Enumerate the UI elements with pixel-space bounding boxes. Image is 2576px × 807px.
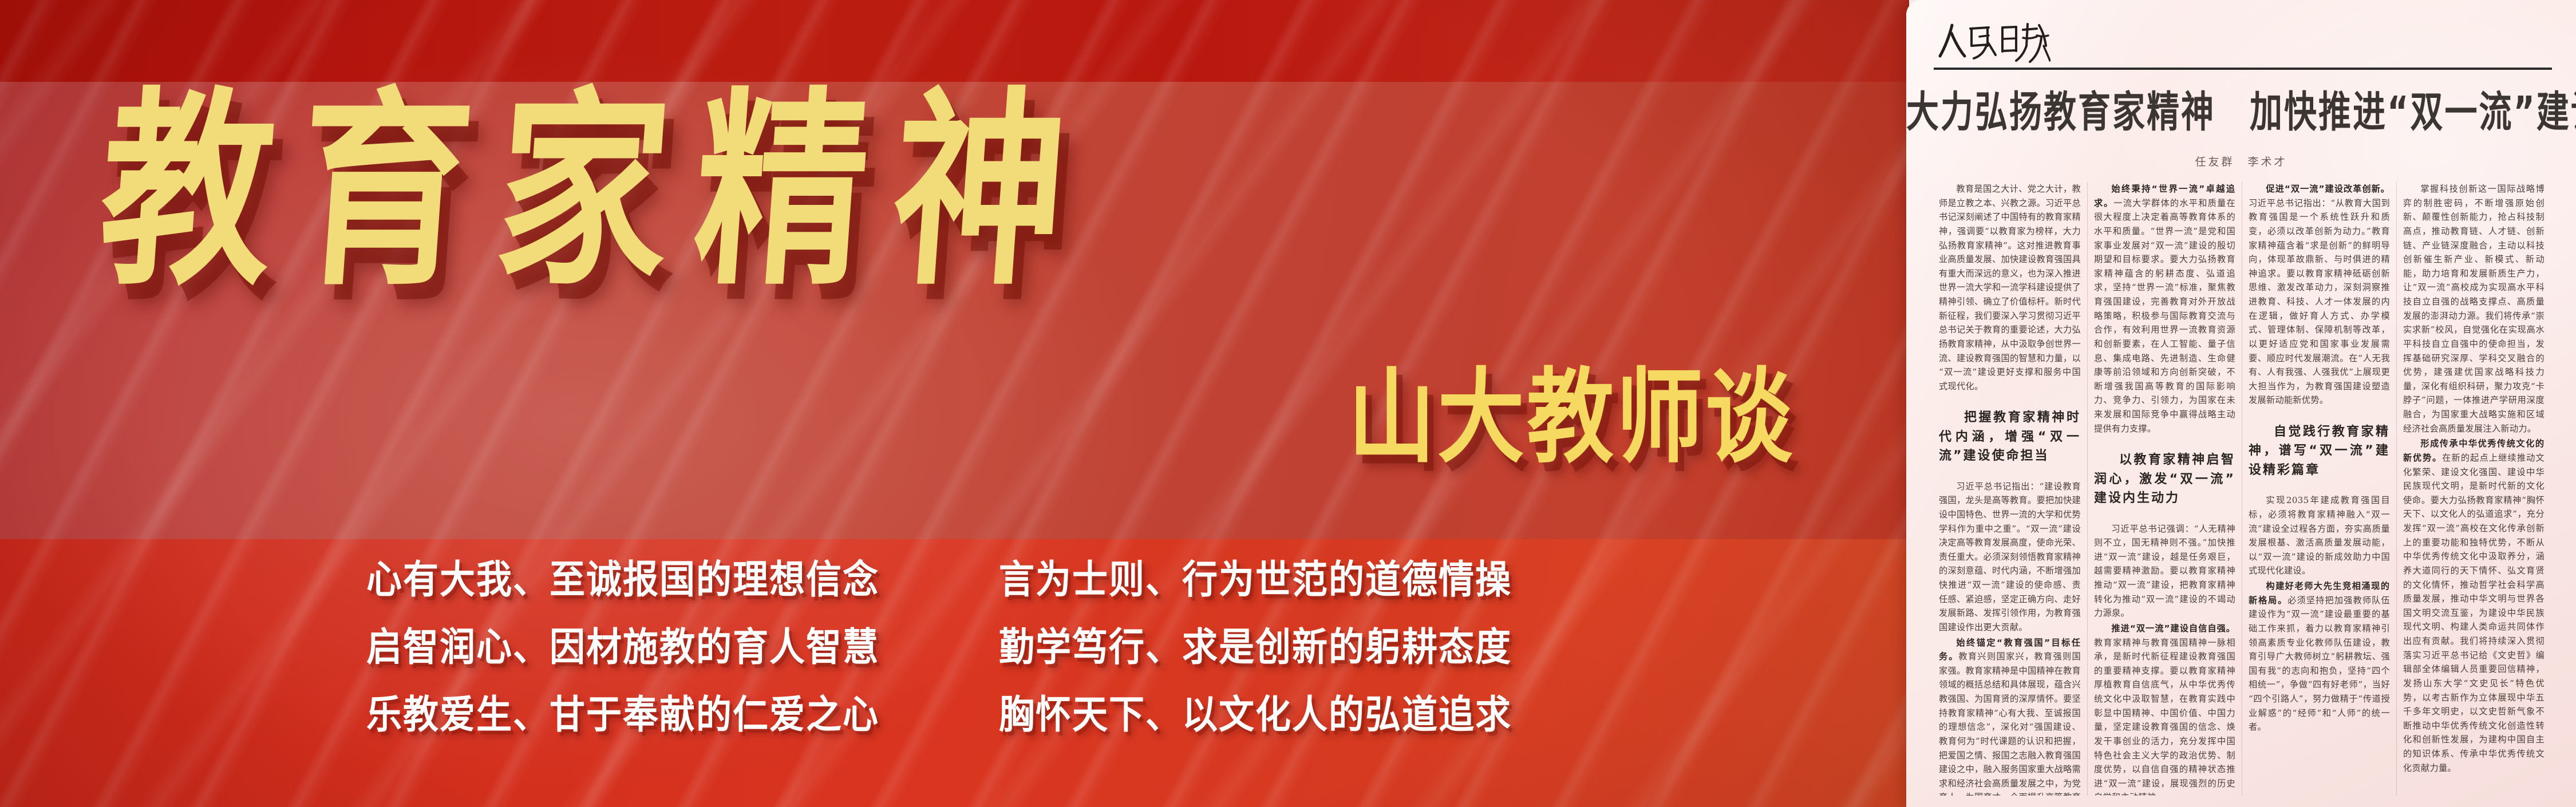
red-poster-panel: 教育家精神 山大教师谈 心有大我、至诚报国的理想信念 言为士则、行为世范的道德情…: [0, 0, 1909, 807]
newspaper-paragraph: 构建好老师大先生竞相涌现的新格局。必须坚持把加强教师队伍建设作为“双一流”建设最…: [2249, 579, 2390, 734]
newspaper-paragraph: 掌握科技创新这一国际战略博弈的制胜密码，不断增强原始创新、颠覆性创新能力，抢占科…: [2403, 182, 2545, 436]
newspaper-paragraph: 推进“双一流”建设自信自强。教育家精神与教育强国精神一脉相承，是新时代新征程建设…: [2094, 622, 2235, 796]
newspaper-subheading: 把握教育家精神时代内涵，增强“双一流”建设使命担当: [1939, 408, 2081, 465]
newspaper-paragraph: 实现2035年建成教育强国目标，必须将教育家精神融入“双一流”建设全过程各方面，…: [2249, 493, 2390, 578]
masthead-divider-rule: [1934, 68, 2552, 70]
slogan-text: 乐教爱生、甘于奉献的仁爱之心: [366, 695, 999, 734]
newspaper-columns: 教育是国之大计、党之大计，教师是立教之本、兴教之源。习近平总书记深刻阐述了中国特…: [1933, 182, 2552, 796]
paragraph-lead-in: 构建好老师大先生竞相涌现的新格局。: [2249, 581, 2390, 606]
newspaper-paragraph: 始终秉持“世界一流”卓越追求。一流大学群体的水平和质量在很大程度上决定着高等教育…: [2094, 182, 2235, 436]
paragraph-lead-in: 形成传承中华优秀传统文化的新优势。: [2403, 438, 2545, 463]
slogan-text: 言为士则、行为世范的道德情操: [999, 560, 1512, 599]
poster-slogan-list: 心有大我、至诚报国的理想信念 言为士则、行为世范的道德情操 启智润心、因材施教的…: [366, 564, 1752, 734]
newspaper-subheading: 以教育家精神启智润心，激发“双一流”建设内生动力: [2094, 450, 2235, 508]
newspaper-paragraph: 习近平总书记指出：“建设教育强国，龙头是高等教育。要把加快建设中国特色、世界一流…: [1939, 480, 2081, 635]
slogan-row: 启智润心、因材施教的育人智慧 勤学笃行、求是创新的躬耕态度: [366, 631, 1752, 667]
newspaper-column: 促进“双一流”建设改革创新。习近平总书记指出：“从教育大国到教育强国是一个系统性…: [2242, 182, 2396, 796]
newspaper-panel: 大力弘扬教育家精神 加快推进“双一流”建设 任友群 李术才 教育是国之大计、党之…: [1906, 0, 2576, 807]
newspaper-paragraph: 始终锚定“教育强国”目标任务。教育兴则国家兴，教育强则国家强。教育家精神是中国精…: [1939, 636, 2081, 796]
newspaper-byline: 任友群 李术才: [1906, 153, 2576, 169]
slogan-row: 乐教爱生、甘于奉献的仁爱之心 胸怀天下、以文化人的弘道追求: [366, 699, 1752, 734]
paragraph-lead-in: 始终锚定“教育强国”目标任务。: [1939, 638, 2081, 662]
poster-calligraphy-title: 教育家精神: [94, 86, 1769, 295]
newspaper-column: 教育是国之大计、党之大计，教师是立教之本、兴教之源。习近平总书记深刻阐述了中国特…: [1933, 182, 2087, 796]
slogan-row: 心有大我、至诚报国的理想信念 言为士则、行为世范的道德情操: [366, 564, 1752, 599]
newspaper-paragraph: 习近平总书记强调：“人无精神则不立，国无精神则不强。”加快推进“双一流”建设，越…: [2094, 522, 2235, 620]
peoples-daily-masthead-icon: [1936, 21, 2050, 65]
slogan-text: 心有大我、至诚报国的理想信念: [366, 560, 999, 599]
paragraph-lead-in: 推进“双一流”建设自信自强。: [2111, 623, 2235, 634]
newspaper-column: 始终秉持“世界一流”卓越追求。一流大学群体的水平和质量在很大程度上决定着高等教育…: [2087, 182, 2242, 796]
slogan-text: 胸怀天下、以文化人的弘道追求: [999, 695, 1512, 734]
slogan-text: 勤学笃行、求是创新的躬耕态度: [999, 628, 1512, 667]
newspaper-headline: 大力弘扬教育家精神 加快推进“双一流”建设: [1906, 92, 2576, 134]
poster-subtitle: 山大教师谈: [1348, 366, 1795, 469]
slogan-text: 启智润心、因材施教的育人智慧: [366, 628, 999, 667]
newspaper-subheading: 自觉践行教育家精神，谱写“双一流”建设精彩篇章: [2249, 422, 2390, 480]
poster-page: 教育家精神 山大教师谈 心有大我、至诚报国的理想信念 言为士则、行为世范的道德情…: [0, 0, 2576, 807]
newspaper-paragraph: 促进“双一流”建设改革创新。习近平总书记指出：“从教育大国到教育强国是一个系统性…: [2249, 182, 2390, 408]
newspaper-paragraph: 教育是国之大计、党之大计，教师是立教之本、兴教之源。习近平总书记深刻阐述了中国特…: [1939, 182, 2081, 393]
paragraph-lead-in: 始终秉持“世界一流”卓越追求。: [2094, 184, 2235, 208]
paragraph-lead-in: 促进“双一流”建设改革创新。: [2266, 184, 2390, 194]
newspaper-column: 掌握科技创新这一国际战略博弈的制胜密码，不断增强原始创新、颠覆性创新能力，抢占科…: [2396, 182, 2551, 796]
newspaper-paragraph: 形成传承中华优秀传统文化的新优势。在新的起点上继续推动文化繁荣、建设文化强国、建…: [2403, 437, 2545, 775]
